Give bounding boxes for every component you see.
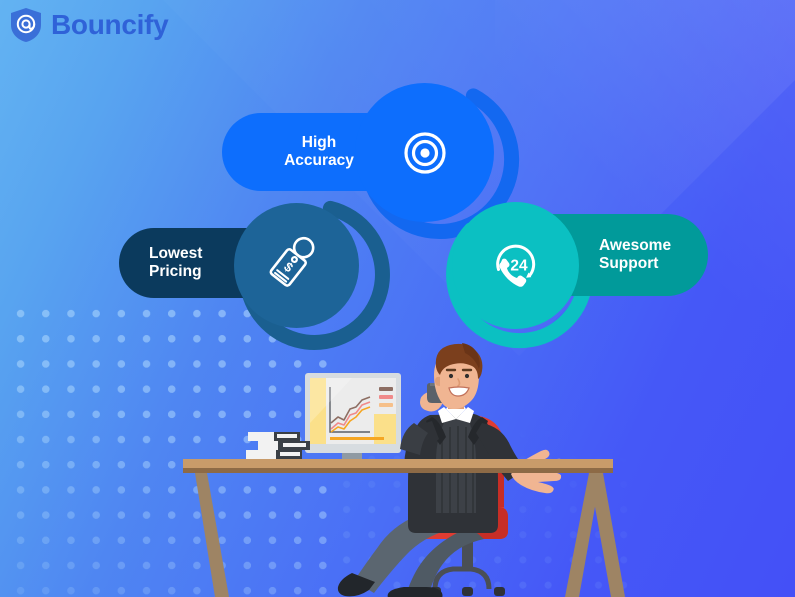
book-stack [246,432,310,459]
price-tag-icon: $ [265,234,329,298]
monitor [305,373,401,467]
promo-banner: Bouncify High Accuracy [0,0,795,597]
awesome-support-label: Awesome Support [599,237,707,273]
target-icon [402,130,448,176]
svg-text:$: $ [281,258,297,275]
awesome-support-disc[interactable]: 24 [452,202,579,329]
support-24-phone-icon: 24 [488,238,544,294]
feature-badges: High Accuracy Lowest Pricing [0,0,795,360]
high-accuracy-disc[interactable] [355,83,494,222]
lowest-pricing-disc[interactable]: $ [234,203,359,328]
businessman-at-desk-illustration [0,337,795,597]
svg-text:24: 24 [510,257,528,274]
